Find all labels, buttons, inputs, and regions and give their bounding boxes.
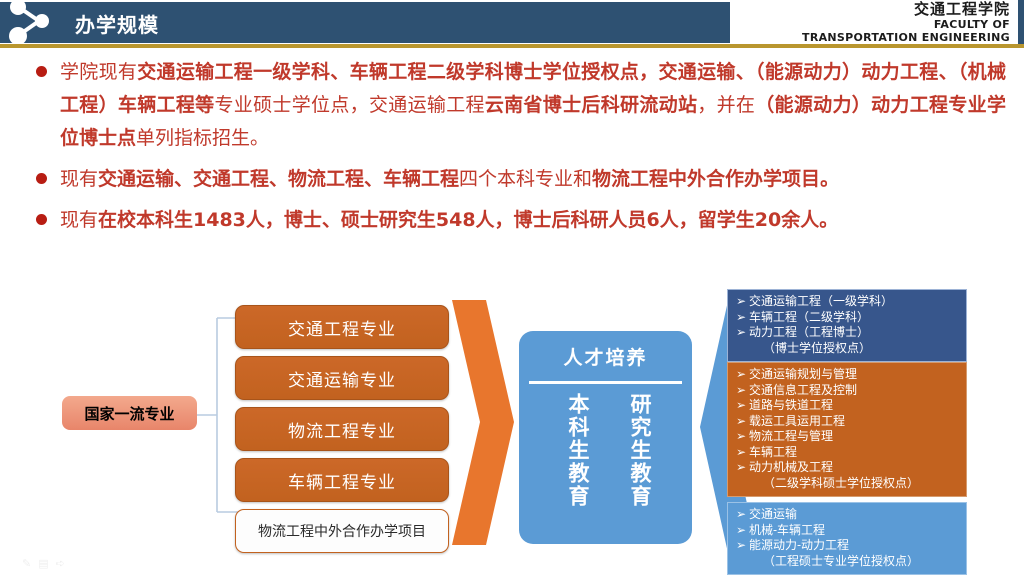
logo-english-line2: TRANSPORTATION ENGINEERING (710, 31, 1010, 44)
bullet-text-2: 现有交通运输、交通工程、物流工程、车辆工程四个本科专业和物流工程中外合作办学项目… (60, 163, 1006, 196)
seg: 云南省博士后科研流动站 (485, 94, 697, 116)
seg: 四个本科专业和 (459, 168, 592, 190)
center-card-talent-cultivation[interactable]: 人才培养 本科生教育 研究生教育 (519, 331, 692, 544)
list-item-label: 交通信息工程及控制 (749, 383, 857, 397)
list-item: ➢交通运输 (736, 507, 960, 523)
center-card-title: 人才培养 (519, 343, 692, 370)
slide-header: 办学规模 交通工程学院 FACULTY OF TRANSPORTATION EN… (0, 0, 1024, 52)
major-box-4[interactable]: 车辆工程专业 (235, 458, 449, 502)
arrow-bullet-icon: ➢ (736, 429, 749, 445)
list-item: ➢载运工具运用工程 (736, 414, 960, 430)
list-item-label: 机械-车辆工程 (749, 523, 825, 537)
undergraduate-education-label: 本科生教育 (561, 393, 595, 508)
arrow-bullet-icon: ➢ (736, 507, 749, 523)
panel-note: （博士学位授权点） (736, 341, 960, 357)
major-box-2[interactable]: 交通运输专业 (235, 356, 449, 400)
list-item-label: 物流工程与管理 (749, 429, 833, 443)
panel-doctoral-programs[interactable]: ➢交通运输工程（一级学科） ➢车辆工程（二级学科） ➢动力工程（工程博士） （博… (727, 289, 967, 362)
arrow-bullet-icon: ➢ (736, 414, 749, 430)
postgraduate-education-label: 研究生教育 (623, 393, 657, 508)
arrow-bullet-icon: ➢ (736, 310, 749, 326)
list-item: ➢车辆工程 (736, 445, 960, 461)
bullet-text-3: 现有在校本科生1483人，博士、硕士研究生548人，博士后科研人员6人，留学生2… (60, 204, 1006, 237)
bullet-dot-icon (36, 214, 47, 225)
seg: 现有 (60, 168, 98, 190)
list-item: ➢机械-车辆工程 (736, 523, 960, 539)
logo-chinese-name: 交通工程学院 (710, 1, 1010, 18)
bullet-dot-icon (36, 173, 47, 184)
list-item-label: 车辆工程（二级学科） (749, 310, 869, 324)
list-item-label: 道路与铁道工程 (749, 398, 833, 412)
arrow-bullet-icon: ➢ (736, 460, 749, 476)
list-item: ➢能源动力-动力工程 (736, 538, 960, 554)
list-item: ➢物流工程与管理 (736, 429, 960, 445)
seg: 学院现有 (60, 61, 137, 83)
list-item-label: 载运工具运用工程 (749, 414, 845, 428)
seg: 单列指标招生。 (136, 127, 269, 149)
list-item: ➢车辆工程（二级学科） (736, 310, 960, 326)
major-box-1[interactable]: 交通工程专业 (235, 305, 449, 349)
bullet-dot-icon (36, 66, 47, 77)
list-item: ➢交通信息工程及控制 (736, 383, 960, 399)
arrow-bullet-icon: ➢ (736, 367, 749, 383)
arrow-bullet-icon: ➢ (736, 325, 749, 341)
list-item-label: 动力工程（工程博士） (749, 325, 869, 339)
panel-professional-masters[interactable]: ➢交通运输 ➢机械-车辆工程 ➢能源动力-动力工程 （工程硕士专业学位授权点） (727, 502, 967, 575)
list-item-label: 交通运输规划与管理 (749, 367, 857, 381)
panel-note: （工程硕士专业学位授权点） (736, 554, 960, 570)
seg: 现有 (60, 209, 98, 231)
seg: ，并在 (697, 94, 755, 116)
panel-note: （二级学科硕士学位授权点） (736, 476, 960, 492)
list-item-label: 交通运输工程（一级学科） (749, 294, 893, 308)
list-item: ➢交通运输工程（一级学科） (736, 294, 960, 310)
arrow-bullet-icon: ➢ (736, 398, 749, 414)
pointer-icon: ➪ (56, 557, 65, 570)
faculty-logo: 交通工程学院 FACULTY OF TRANSPORTATION ENGINEE… (710, 1, 1010, 44)
list-item: ➢道路与铁道工程 (736, 398, 960, 414)
page-title: 办学规模 (75, 9, 159, 38)
list-icon: ▤ (38, 557, 48, 570)
list-item-label: 交通运输 (749, 507, 797, 521)
list-item: ➢交通运输规划与管理 (736, 367, 960, 383)
list-item: ➢动力机械及工程 (736, 460, 960, 476)
header-gold-rule (0, 44, 1024, 48)
bullet-text-1: 学院现有交通运输工程一级学科、车辆工程二级学科博士学位授权点，交通运输、（能源动… (60, 56, 1006, 155)
center-card-divider (529, 381, 682, 384)
bullet-list: 学院现有交通运输工程一级学科、车辆工程二级学科博士学位授权点，交通运输、（能源动… (0, 56, 1024, 237)
list-item-label: 车辆工程 (749, 445, 797, 459)
arrow-bullet-icon: ➢ (736, 523, 749, 539)
arrow-bullet-icon: ➢ (736, 383, 749, 399)
arrow-bullet-icon: ➢ (736, 445, 749, 461)
seg: 交通运输、交通工程、物流工程、车辆工程 (98, 168, 459, 190)
bullet-item-1: 学院现有交通运输工程一级学科、车辆工程二级学科博士学位授权点，交通运输、（能源动… (0, 56, 1024, 155)
logo-english-line1: FACULTY OF (710, 18, 1010, 31)
arrow-bullet-icon: ➢ (736, 538, 749, 554)
list-item: ➢动力工程（工程博士） (736, 325, 960, 341)
list-item-label: 动力机械及工程 (749, 460, 833, 474)
chevron-right-icon-orange (452, 300, 514, 545)
seg: 在校本科生1483人，博士、硕士研究生548人，博士后科研人员6人，留学生20余… (98, 209, 838, 231)
editing-marks: ✎ ▤ ➪ (22, 556, 82, 570)
core-node-national-first-class-major[interactable]: 国家一流专业 (62, 396, 197, 430)
seg: 物流工程中外合作办学项目 (592, 168, 820, 190)
arrow-bullet-icon: ➢ (736, 294, 749, 310)
header-right-accent (1018, 0, 1024, 44)
bullet-item-2: 现有交通运输、交通工程、物流工程、车辆工程四个本科专业和物流工程中外合作办学项目… (0, 163, 1024, 196)
major-box-5[interactable]: 物流工程中外合作办学项目 (235, 509, 449, 553)
pen-icon: ✎ (22, 557, 31, 570)
list-item-label: 能源动力-动力工程 (749, 538, 849, 552)
bullet-item-3: 现有在校本科生1483人，博士、硕士研究生548人，博士后科研人员6人，留学生2… (0, 204, 1024, 237)
major-box-3[interactable]: 物流工程专业 (235, 407, 449, 451)
network-node-icon (6, 0, 66, 45)
seg: 专业硕士学位点，交通运输工程 (215, 94, 485, 116)
seg: 。 (820, 168, 839, 190)
panel-masters-programs[interactable]: ➢交通运输规划与管理 ➢交通信息工程及控制 ➢道路与铁道工程 ➢载运工具运用工程… (727, 362, 967, 497)
